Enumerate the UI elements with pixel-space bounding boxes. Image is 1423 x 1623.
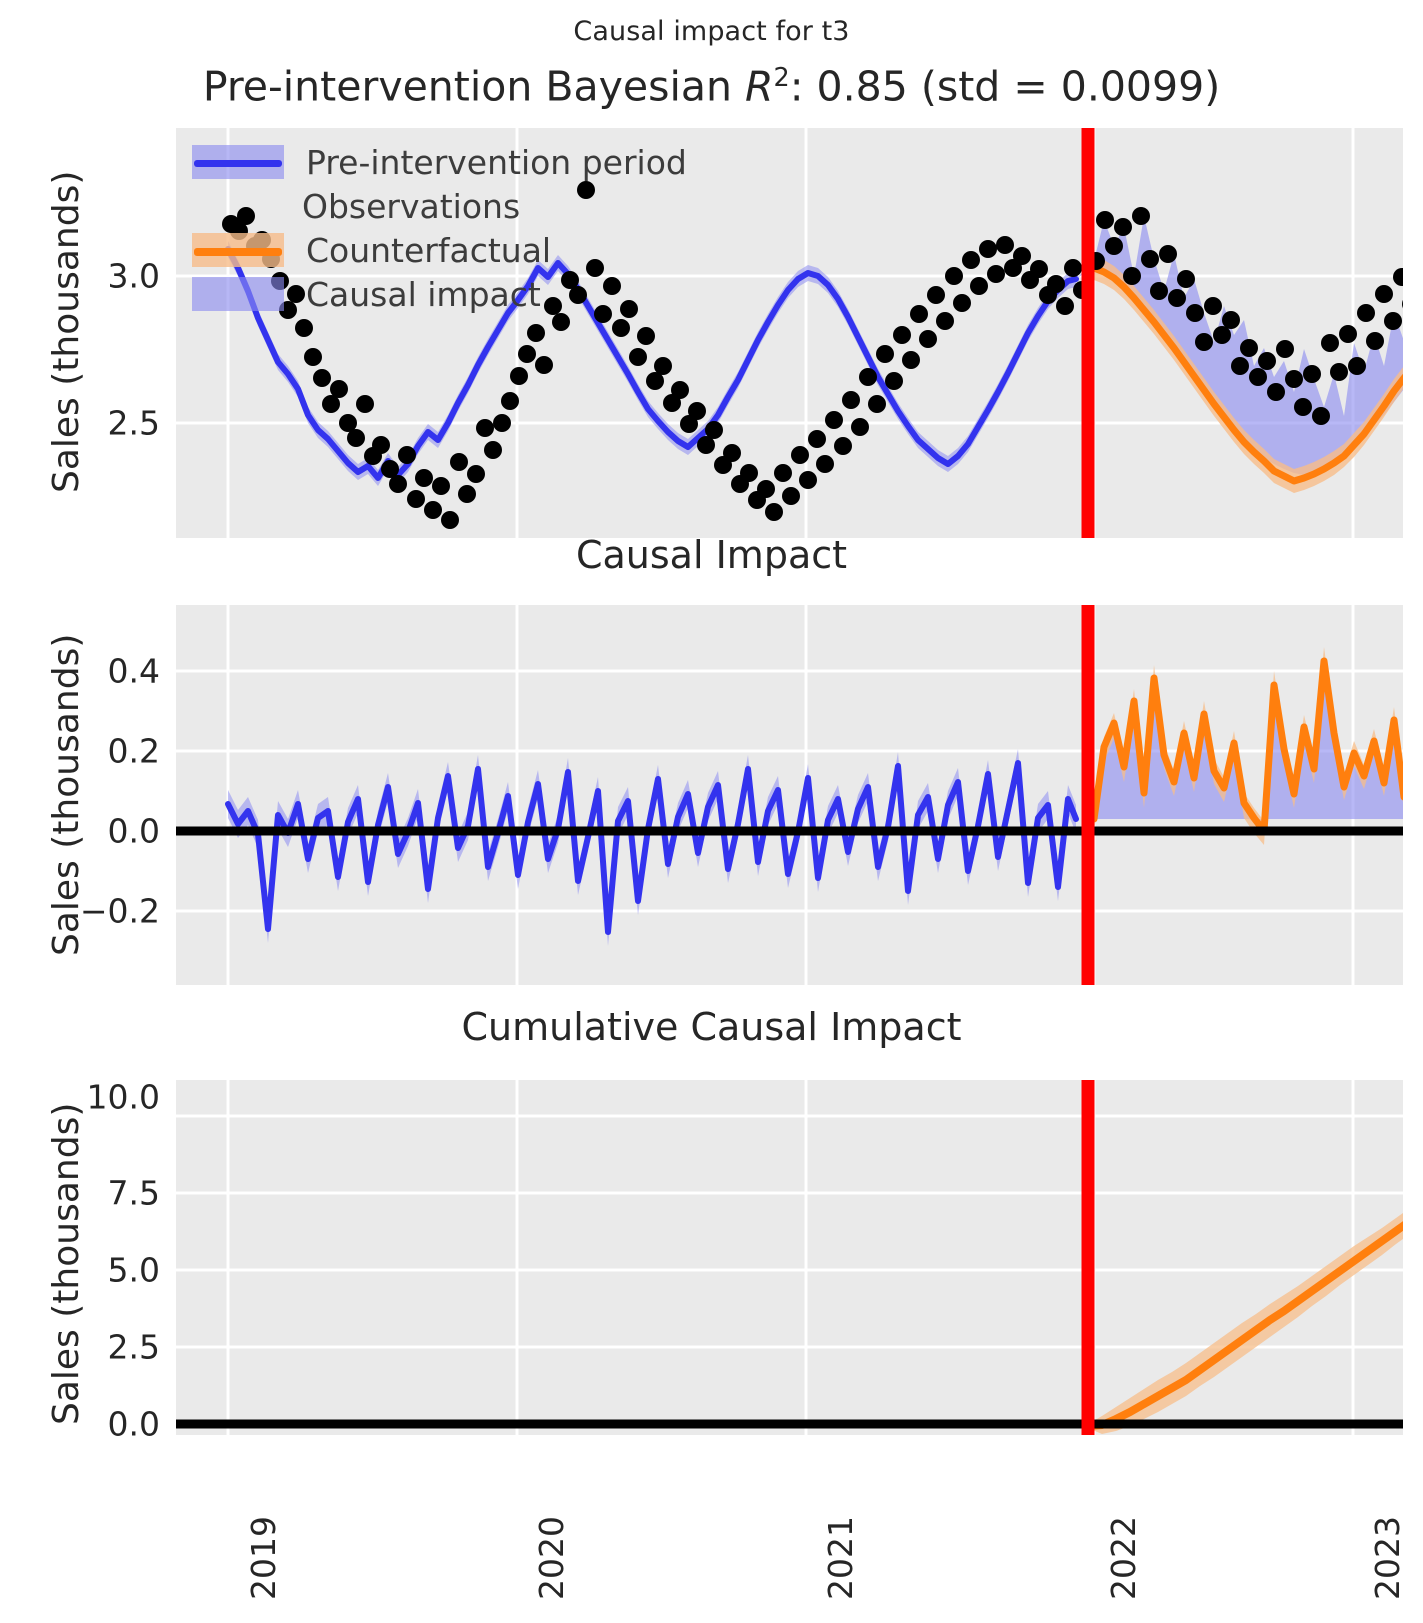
panel-2-ylabel: Sales (thousands) bbox=[46, 634, 87, 956]
legend-label-observations: Observations bbox=[302, 187, 520, 226]
xtick-2019: 2019 bbox=[244, 1516, 283, 1600]
panel-2-pre-band bbox=[228, 749, 1076, 946]
panel-3-canvas bbox=[176, 1080, 1403, 1435]
legend-swatch-line-orange bbox=[194, 248, 282, 256]
panel-2-ytick-neg0.2: −0.2 bbox=[18, 895, 160, 928]
legend-item-pre-intervention[interactable]: Pre-intervention period bbox=[192, 140, 687, 184]
xtick-2023: 2023 bbox=[1368, 1516, 1407, 1600]
panel-3-ylabel: Sales (thousands) bbox=[46, 1103, 87, 1425]
panel-3-title: Cumulative Causal Impact bbox=[0, 1005, 1423, 1049]
xtick-2022: 2022 bbox=[1104, 1516, 1143, 1600]
xtick-2020: 2020 bbox=[532, 1516, 571, 1600]
legend-label-pre-intervention: Pre-intervention period bbox=[306, 143, 687, 182]
panel-3-band bbox=[1088, 1140, 1403, 1434]
panel-3-gridlines bbox=[176, 1080, 1403, 1435]
panel-causal-impact bbox=[176, 605, 1403, 985]
legend: Pre-intervention period Observations Cou… bbox=[192, 140, 687, 316]
panel-2-canvas bbox=[176, 605, 1403, 985]
title-prefix: Pre-intervention Bayesian bbox=[203, 63, 745, 111]
panel-1-ylabel: Sales (thousands) bbox=[46, 171, 87, 493]
legend-item-counterfactual[interactable]: Counterfactual bbox=[192, 228, 687, 272]
page-title: Pre-intervention Bayesian R2: 0.85 (std … bbox=[0, 62, 1423, 111]
title-exponent: 2 bbox=[774, 62, 790, 92]
title-suffix: : 0.85 (std = 0.0099) bbox=[790, 63, 1221, 111]
panel-2-title: Causal Impact bbox=[0, 533, 1423, 577]
legend-item-observations[interactable]: Observations bbox=[192, 184, 687, 228]
legend-swatch-line-blue bbox=[194, 160, 282, 167]
panel-cumulative-causal-impact bbox=[176, 1080, 1403, 1435]
legend-swatch-band-impact bbox=[192, 277, 284, 311]
xtick-2021: 2021 bbox=[821, 1516, 860, 1600]
panel-2-pre-line bbox=[228, 763, 1076, 932]
title-symbol: R bbox=[745, 63, 774, 111]
causal-impact-figure: Causal impact for t3 Pre-intervention Ba… bbox=[0, 0, 1423, 1623]
figure-suptitle: Causal impact for t3 bbox=[0, 16, 1423, 47]
legend-item-causal-impact[interactable]: Causal impact bbox=[192, 272, 687, 316]
legend-swatch-observations bbox=[192, 191, 280, 221]
panel-3-cumulative-line bbox=[1088, 1150, 1403, 1426]
panel-observed-vs-counterfactual: Pre-intervention period Observations Cou… bbox=[176, 128, 1403, 538]
legend-label-causal-impact: Causal impact bbox=[306, 275, 541, 314]
legend-label-counterfactual: Counterfactual bbox=[306, 231, 551, 270]
